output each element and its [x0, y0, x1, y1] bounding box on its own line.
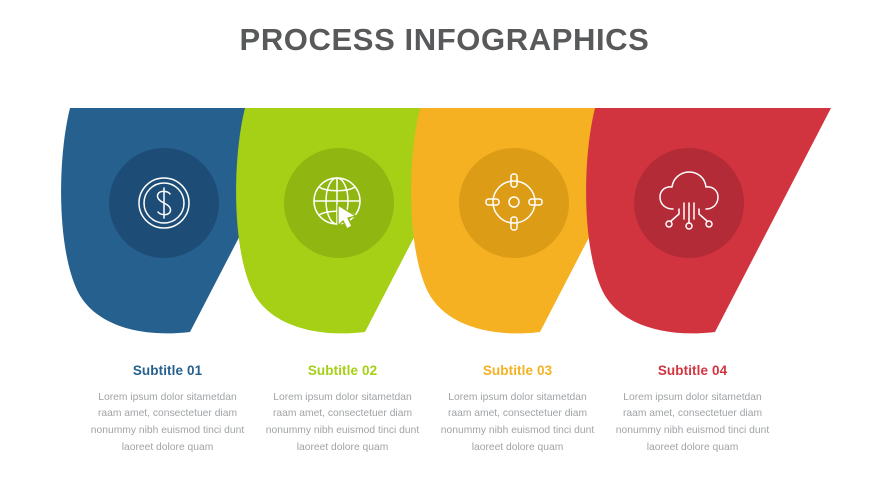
caption-block-4: Subtitle 04 Lorem ipsum dolor sitametdan…: [605, 364, 780, 484]
caption-block-2: Subtitle 02 Lorem ipsum dolor sitametdan…: [255, 364, 430, 484]
step-2-icon-circle: [284, 148, 394, 258]
caption-subtitle-2: Subtitle 02: [255, 364, 430, 378]
infographic-page: PROCESS INFOGRAPHICS: [0, 0, 889, 500]
caption-block-3: Subtitle 03 Lorem ipsum dolor sitametdan…: [430, 364, 605, 484]
caption-body-4: Lorem ipsum dolor sitametdan raam amet, …: [605, 390, 780, 457]
caption-body-3: Lorem ipsum dolor sitametdan raam amet, …: [430, 390, 605, 457]
captions-row: Subtitle 01 Lorem ipsum dolor sitametdan…: [0, 364, 889, 484]
caption-body-1: Lorem ipsum dolor sitametdan raam amet, …: [80, 390, 255, 457]
caption-subtitle-1: Subtitle 01: [80, 364, 255, 378]
step-3-icon-circle: [459, 148, 569, 258]
process-step-4[interactable]: [586, 108, 831, 333]
caption-block-1: Subtitle 01 Lorem ipsum dolor sitametdan…: [80, 364, 255, 484]
caption-subtitle-4: Subtitle 04: [605, 364, 780, 378]
page-title-container: PROCESS INFOGRAPHICS: [0, 24, 889, 55]
caption-subtitle-3: Subtitle 03: [430, 364, 605, 378]
caption-body-2: Lorem ipsum dolor sitametdan raam amet, …: [255, 390, 430, 457]
page-title: PROCESS INFOGRAPHICS: [0, 24, 889, 55]
